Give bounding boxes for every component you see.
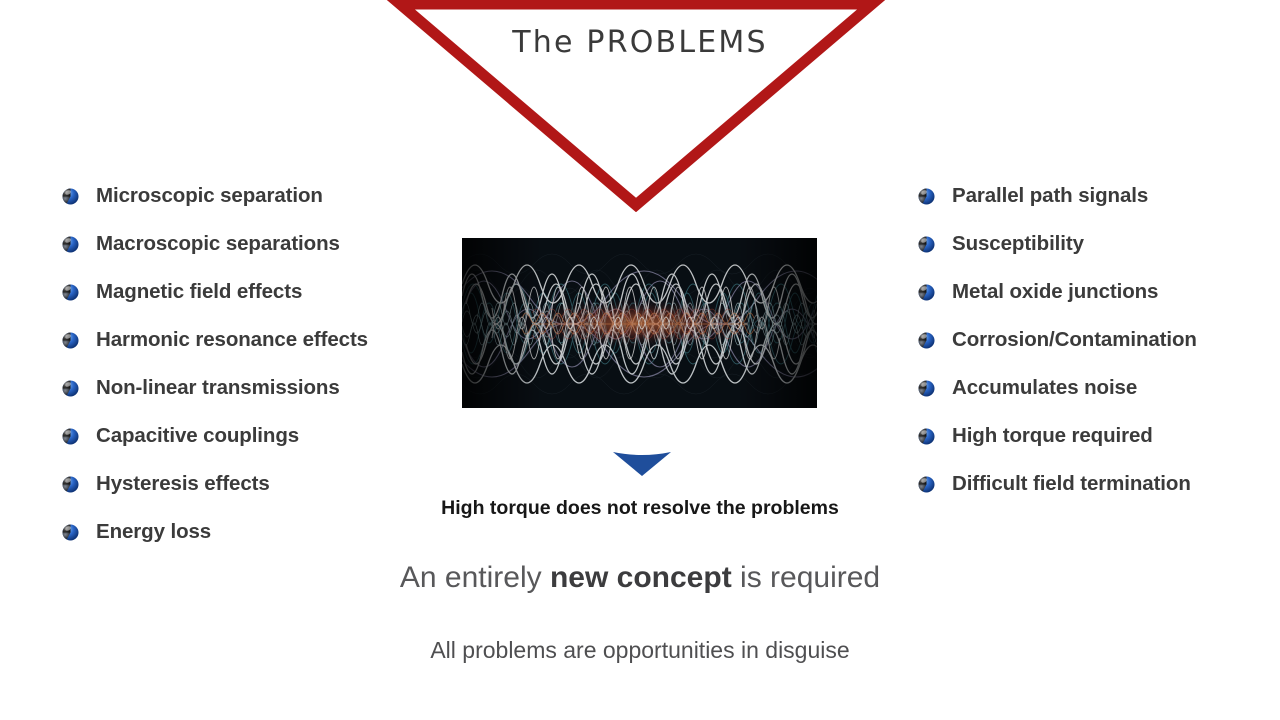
blue-sphere-bullet-icon [918,236,935,253]
list-item-label: Corrosion/Contamination [952,328,1197,352]
blue-sphere-bullet-icon [62,332,79,349]
list-item: Macroscopic separations [62,220,462,268]
list-item: Susceptibility [918,220,1268,268]
list-item-label: Magnetic field effects [96,280,302,304]
list-item-label: Macroscopic separations [96,232,340,256]
list-item-label: Accumulates noise [952,376,1137,400]
slide-canvas: The PROBLEMS [0,0,1280,720]
blue-sphere-bullet-icon [918,284,935,301]
list-item: Metal oxide junctions [918,268,1268,316]
blue-sphere-bullet-icon [918,428,935,445]
list-item-label: Capacitive couplings [96,424,299,448]
page-title: The PROBLEMS [0,25,1280,60]
down-arrow-icon [613,450,671,476]
blue-sphere-bullet-icon [62,476,79,493]
blue-sphere-bullet-icon [62,236,79,253]
list-item: Microscopic separation [62,172,462,220]
blue-sphere-bullet-icon [62,284,79,301]
blue-sphere-bullet-icon [62,188,79,205]
list-item-label: Parallel path signals [952,184,1148,208]
list-item-label: Metal oxide junctions [952,280,1158,304]
list-item-label: Susceptibility [952,232,1084,256]
right-problem-list: Parallel path signals Susceptibility [918,172,1268,508]
blue-sphere-bullet-icon [918,476,935,493]
list-item: Parallel path signals [918,172,1268,220]
list-item-label: High torque required [952,424,1153,448]
blue-sphere-bullet-icon [918,188,935,205]
list-item-label: Difficult field termination [952,472,1191,496]
conclusion-emphasis: new concept [550,561,732,594]
blue-sphere-bullet-icon [918,380,935,397]
list-item: Harmonic resonance effects [62,316,462,364]
list-item: Corrosion/Contamination [918,316,1268,364]
list-item-label: Hysteresis effects [96,472,270,496]
conclusion-prefix: An entirely [400,561,550,594]
list-item-label: Microscopic separation [96,184,323,208]
blue-sphere-bullet-icon [62,428,79,445]
blue-sphere-bullet-icon [62,380,79,397]
list-item: High torque required [918,412,1268,460]
list-item: Accumulates noise [918,364,1268,412]
list-item-label: Non-linear transmissions [96,376,340,400]
waveform-interference-image [462,238,817,408]
torque-caption: High torque does not resolve the problem… [0,497,1280,520]
list-item: Capacitive couplings [62,412,462,460]
blue-sphere-bullet-icon [918,332,935,349]
conclusion-suffix: is required [732,561,880,594]
list-item: Magnetic field effects [62,268,462,316]
blue-sphere-bullet-icon [62,524,79,541]
list-item: Non-linear transmissions [62,364,462,412]
list-item-label: Energy loss [96,520,211,544]
conclusion-line: An entirely new concept is required [0,561,1280,595]
tagline: All problems are opportunities in disgui… [0,637,1280,664]
list-item-label: Harmonic resonance effects [96,328,368,352]
